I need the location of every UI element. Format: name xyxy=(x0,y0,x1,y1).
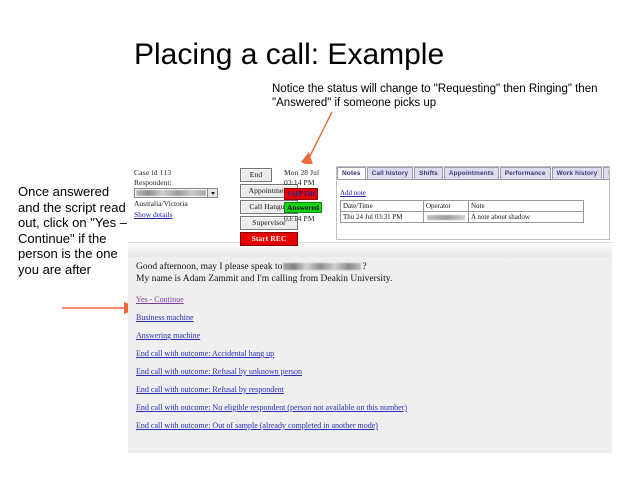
call-status-badge: Answered xyxy=(284,202,322,214)
tab-notes[interactable]: Notes xyxy=(337,167,366,179)
case-id-label: Case id 113 xyxy=(134,168,234,178)
notes-table: Date/Time Operator Note Thu 24 Jul 03:31… xyxy=(340,200,584,223)
start-rec-button[interactable]: Start REC xyxy=(240,232,298,246)
case-info-block: Case id 113 Respondent: Australia/Victor… xyxy=(134,168,234,219)
option-business-machine[interactable]: Business machine xyxy=(136,313,194,322)
status-time-bottom: 03:14 PM xyxy=(284,214,330,224)
note-datetime-cell: Thu 24 Jul 03:31 PM xyxy=(341,212,424,223)
option-answering-machine[interactable]: Answering machine xyxy=(136,331,200,340)
tab-performance[interactable]: Performance xyxy=(500,167,551,179)
option-accidental-hang-up[interactable]: End call with outcome: Accidental hang u… xyxy=(136,349,274,358)
script-line-2: My name is Adam Zammit and I'm calling f… xyxy=(136,273,604,285)
panel-separator xyxy=(128,243,612,257)
script-body: Good afternoon, may I please speak to? M… xyxy=(128,257,612,453)
page-title: Placing a call: Example xyxy=(134,38,444,72)
script-options-list: Yes - Continue Business machine Answerin… xyxy=(136,295,604,430)
option-refusal-respondent[interactable]: End call with outcome: Refusal by respon… xyxy=(136,385,284,394)
call-status-column: Mon 28 Jul 03:14 PM VoIP Off Answered 03… xyxy=(284,168,330,224)
status-time-top: 03:14 PM xyxy=(284,178,330,188)
option-out-of-sample[interactable]: End call with outcome: Out of sample (al… xyxy=(136,421,378,430)
option-refusal-unknown-person[interactable]: End call with outcome: Refusal by unknow… xyxy=(136,367,302,376)
notes-col-datetime: Date/Time xyxy=(341,201,424,212)
note-operator-cell xyxy=(424,212,469,223)
table-row[interactable]: Thu 24 Jul 03:31 PM A note about shadow xyxy=(341,212,584,223)
tab-call-history[interactable]: Call history xyxy=(367,167,414,179)
tab-appointments[interactable]: Appointments xyxy=(444,167,499,179)
respondent-select[interactable] xyxy=(134,188,218,198)
respondent-value-redacted xyxy=(136,190,206,196)
top-annotation-text: Notice the status will change to "Reques… xyxy=(272,82,612,110)
option-yes-continue[interactable]: Yes - Continue xyxy=(136,295,184,304)
note-text-cell: A note about shadow xyxy=(469,212,584,223)
script-line-1-before: Good afternoon, may I please speak to xyxy=(136,262,282,272)
tab-info[interactable]: Info xyxy=(603,167,610,179)
tab-work-history[interactable]: Work history xyxy=(552,167,603,179)
respondent-label: Respondent: xyxy=(134,178,234,188)
tab-strip: Notes Call history Shifts Appointments P… xyxy=(337,167,609,180)
tab-shifts[interactable]: Shifts xyxy=(414,167,443,179)
tab-panel: Notes Call history Shifts Appointments P… xyxy=(336,166,610,240)
notes-col-note: Note xyxy=(469,201,584,212)
add-note-link[interactable]: Add note xyxy=(340,189,366,197)
notes-tab-body: Add note Date/Time Operator Note Thu 24 … xyxy=(337,180,609,225)
notes-col-operator: Operator xyxy=(424,201,469,212)
operator-redacted xyxy=(427,215,465,220)
timezone-region-label: Australia/Victoria xyxy=(134,199,234,209)
embedded-app-screenshot: Case id 113 Respondent: Australia/Victor… xyxy=(128,164,612,456)
script-line-1-after: ? xyxy=(362,262,366,272)
chevron-down-icon[interactable] xyxy=(207,189,217,197)
left-annotation-text: Once answered and the script read out, c… xyxy=(18,184,128,277)
script-line-1: Good afternoon, may I please speak to? xyxy=(136,261,604,273)
notes-table-header-row: Date/Time Operator Note xyxy=(341,201,584,212)
voip-status-badge: VoIP Off xyxy=(284,188,318,200)
respondent-name-redacted xyxy=(283,263,361,270)
option-no-eligible-respondent[interactable]: End call with outcome: No eligible respo… xyxy=(136,403,407,412)
status-date: Mon 28 Jul xyxy=(284,168,330,178)
show-details-link[interactable]: Show details xyxy=(134,210,173,220)
app-header-band: Case id 113 Respondent: Australia/Victor… xyxy=(128,164,612,243)
end-button[interactable]: End xyxy=(240,168,272,182)
